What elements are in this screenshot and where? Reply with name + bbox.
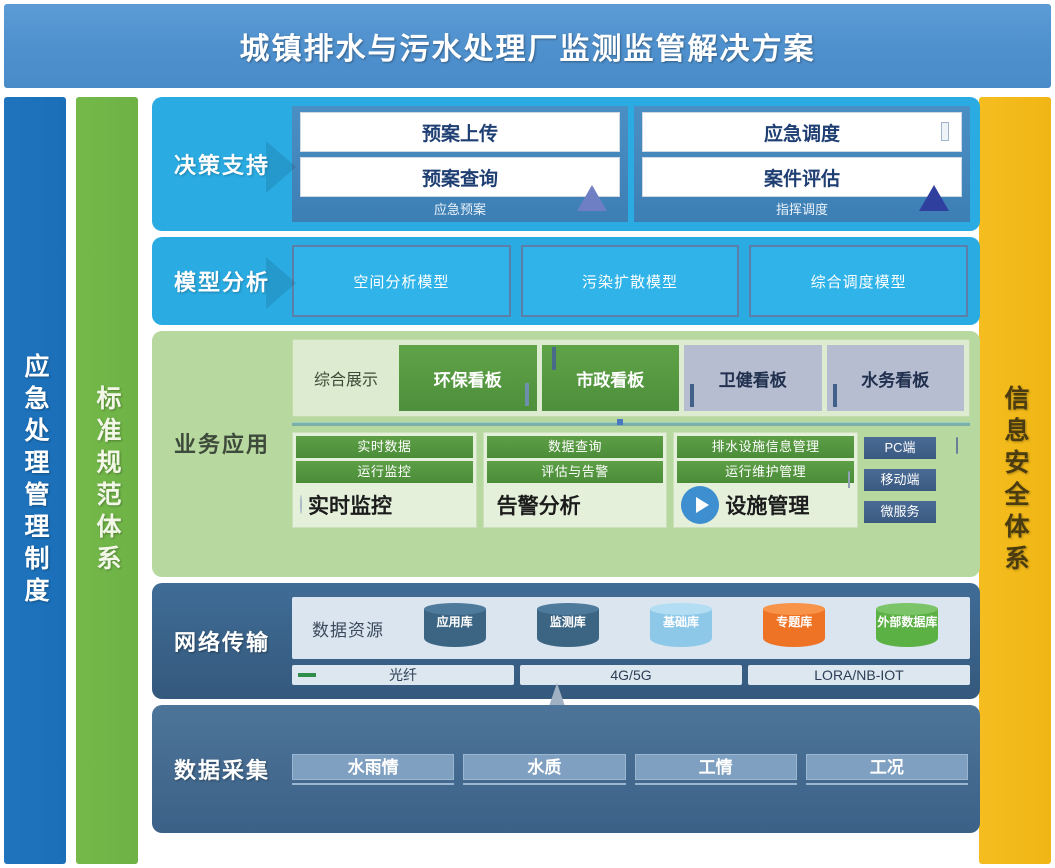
terminal-badge-microservice-label: 微服务 <box>881 504 920 519</box>
layer-decision-support: 决策支持 预案上传 预案查询 应急预案 应急调度 案件评 <box>152 97 980 231</box>
terminal-badge-pc-label: PC端 <box>884 440 915 455</box>
decision-card-emergency-dispatch[interactable]: 应急调度 <box>642 112 962 152</box>
layer-model-label: 模型分析 <box>152 265 292 297</box>
cylinder-icon: 基础库 <box>650 603 712 653</box>
terminal-badges: PC端 移动端 微服务 <box>864 432 970 528</box>
layer-network-label: 网络传输 <box>152 625 292 657</box>
sidebar-standards-label: 标准规范体系 <box>89 385 125 577</box>
app-column-alarm: 数据查询 评估与告警 告警分析 <box>483 432 668 528</box>
transmission-fiber-label: 光纤 <box>389 665 417 685</box>
database-monitoring[interactable]: 监测库 <box>513 603 622 653</box>
dashboard-card-water-affairs-label: 水务看板 <box>861 366 929 391</box>
pyramid-light-icon <box>577 168 607 186</box>
layer-data-acquisition: 数据采集 水雨情 水质 工情 工况 <box>152 705 980 833</box>
architecture-stack: 决策支持 预案上传 预案查询 应急预案 应急调度 案件评 <box>152 97 980 864</box>
app-main-alarm-analysis[interactable]: 告警分析 <box>487 486 664 524</box>
database-external[interactable]: 外部数据库 <box>853 603 962 653</box>
dashboard-card-health[interactable]: 卫健看板 <box>684 345 822 411</box>
dashboard-card-health-label: 卫健看板 <box>719 366 787 391</box>
node-icon <box>690 386 694 406</box>
cylinder-icon: 监测库 <box>537 603 599 653</box>
database-thematic-label: 专题库 <box>763 616 825 629</box>
monitor-icon <box>525 385 529 405</box>
transmission-lora-label: LORA/NB-IOT <box>814 667 903 683</box>
dashboard-card-water-affairs[interactable]: 水务看板 <box>827 345 965 411</box>
app-column-realtime: 实时数据 运行监控 实时监控 <box>292 432 477 528</box>
canal-photo <box>292 783 454 785</box>
decision-group-emergency-plan: 预案上传 预案查询 应急预案 <box>292 106 628 222</box>
database-basic-label: 基础库 <box>650 616 712 629</box>
decision-card-case-assessment[interactable]: 案件评估 <box>642 157 962 197</box>
app-main-realtime-monitoring[interactable]: 实时监控 <box>296 486 473 524</box>
decision-card-plan-upload-label: 预案上传 <box>422 119 498 146</box>
globe-icon <box>300 496 302 514</box>
sidebar-emergency-label: 应急处理管理制度 <box>17 353 53 609</box>
data-resource-label: 数据资源 <box>300 616 396 641</box>
terminal-badge-pc[interactable]: PC端 <box>864 437 936 459</box>
data-card-water-quality[interactable]: 水质 <box>463 754 625 785</box>
dashboard-card-environment-label: 环保看板 <box>434 366 502 391</box>
sidebar-information-security: 信息安全体系 <box>979 97 1051 864</box>
app-tag-operation-maintenance[interactable]: 运行维护管理 <box>677 461 854 483</box>
sidebar-emergency-management: 应急处理管理制度 <box>4 97 66 864</box>
database-basic[interactable]: 基础库 <box>626 603 735 653</box>
decision-card-plan-query-label: 预案查询 <box>422 164 498 191</box>
grid-icon <box>941 123 949 141</box>
database-application-label: 应用库 <box>424 616 486 629</box>
model-card-integrated-dispatch[interactable]: 综合调度模型 <box>749 245 968 317</box>
dashboard-divider <box>292 422 970 426</box>
cylinder-icon: 专题库 <box>763 603 825 653</box>
decision-group-command-dispatch-caption: 指挥调度 <box>642 202 962 218</box>
page-title-banner: 城镇排水与污水处理厂监测监管解决方案 <box>4 4 1051 88</box>
model-card-pollution-diffusion[interactable]: 污染扩散模型 <box>521 245 740 317</box>
transmission-cellular[interactable]: 4G/5G <box>520 665 742 685</box>
laptop-icon <box>956 435 958 457</box>
app-column-facility: 排水设施信息管理 运行维护管理 设施管理 <box>673 432 858 528</box>
sidebar-security-label: 信息安全体系 <box>997 385 1033 577</box>
terminal-badge-mobile[interactable]: 移动端 <box>864 469 936 491</box>
sidebar-standards-system: 标准规范体系 <box>76 97 138 864</box>
play-icon <box>681 486 719 524</box>
dashboard-card-municipal-label: 市政看板 <box>576 366 644 391</box>
terminal-badge-mobile-label: 移动端 <box>881 472 920 487</box>
database-monitoring-label: 监测库 <box>537 616 599 629</box>
layer-network-transmission: 网络传输 数据资源 应用库 监测库 <box>152 583 980 699</box>
decision-card-emergency-dispatch-label: 应急调度 <box>764 119 840 146</box>
decision-card-case-assessment-label: 案件评估 <box>764 164 840 191</box>
data-card-water-rain-title: 水雨情 <box>292 754 454 780</box>
layer-business-application: 业务应用 综合展示 环保看板 市政看板 卫健看板 水务看板 <box>152 331 980 577</box>
pyramid-dark-icon <box>919 168 949 186</box>
app-main-facility-management-label: 设施管理 <box>725 490 809 520</box>
dashboard-label: 综合展示 <box>298 345 394 411</box>
data-card-works-status-title: 工情 <box>635 754 797 780</box>
application-columns: 实时数据 运行监控 实时监控 数据查询 评估与告警 告警分析 <box>292 432 970 528</box>
cylinder-icon: 外部数据库 <box>876 603 938 653</box>
cylinder-icon: 应用库 <box>424 603 486 653</box>
decision-card-plan-query[interactable]: 预案查询 <box>300 157 620 197</box>
data-card-water-quality-title: 水质 <box>463 754 625 780</box>
data-card-operating-condition[interactable]: 工况 <box>806 754 968 785</box>
phone-icon <box>848 469 850 491</box>
pipe-photo <box>635 783 797 785</box>
database-thematic[interactable]: 专题库 <box>740 603 849 653</box>
app-tag-operation-monitor[interactable]: 运行监控 <box>296 461 473 483</box>
transmission-lora[interactable]: LORA/NB-IOT <box>748 665 970 685</box>
transmission-fiber[interactable]: 光纤 <box>292 665 514 685</box>
tower-icon <box>548 667 566 683</box>
transmission-strip: 光纤 4G/5G LORA/NB-IOT <box>292 665 970 685</box>
app-main-facility-management[interactable]: 设施管理 <box>677 486 854 524</box>
dashboard-card-municipal[interactable]: 市政看板 <box>542 345 680 411</box>
tank-photo <box>463 783 625 785</box>
data-card-water-rain[interactable]: 水雨情 <box>292 754 454 785</box>
layer-data-label: 数据采集 <box>152 753 292 785</box>
dashboard-row: 综合展示 环保看板 市政看板 卫健看板 水务看板 <box>292 339 970 417</box>
data-card-operating-condition-title: 工况 <box>806 754 968 780</box>
data-resource-strip: 数据资源 应用库 监测库 基础库 <box>292 597 970 659</box>
app-tag-realtime-data[interactable]: 实时数据 <box>296 436 473 458</box>
layer-business-label: 业务应用 <box>152 427 292 459</box>
layer-decision-label: 决策支持 <box>152 148 292 180</box>
decision-group-command-dispatch: 应急调度 案件评估 指挥调度 <box>634 106 970 222</box>
page-title: 城镇排水与污水处理厂监测监管解决方案 <box>240 24 816 68</box>
dashboard-card-environment[interactable]: 环保看板 <box>399 345 537 411</box>
data-card-works-status[interactable]: 工情 <box>635 754 797 785</box>
app-tag-drainage-facility-info[interactable]: 排水设施信息管理 <box>677 436 854 458</box>
transmission-cellular-label: 4G/5G <box>610 667 651 683</box>
app-tag-data-query[interactable]: 数据查询 <box>487 436 664 458</box>
node-icon <box>833 386 837 406</box>
app-main-alarm-analysis-label: 告警分析 <box>497 490 581 520</box>
scada-photo <box>806 783 968 785</box>
app-tag-assessment-alarm[interactable]: 评估与告警 <box>487 461 664 483</box>
database-external-label: 外部数据库 <box>876 616 938 629</box>
decision-card-plan-upload[interactable]: 预案上传 <box>300 112 620 152</box>
app-main-realtime-monitoring-label: 实时监控 <box>308 490 392 520</box>
layer-model-analysis: 模型分析 空间分析模型 污染扩散模型 综合调度模型 <box>152 237 980 325</box>
decision-group-emergency-plan-caption: 应急预案 <box>300 202 620 218</box>
database-application[interactable]: 应用库 <box>400 603 509 653</box>
model-card-spatial-analysis[interactable]: 空间分析模型 <box>292 245 511 317</box>
window-icon <box>552 349 556 369</box>
terminal-badge-microservice[interactable]: 微服务 <box>864 501 936 523</box>
